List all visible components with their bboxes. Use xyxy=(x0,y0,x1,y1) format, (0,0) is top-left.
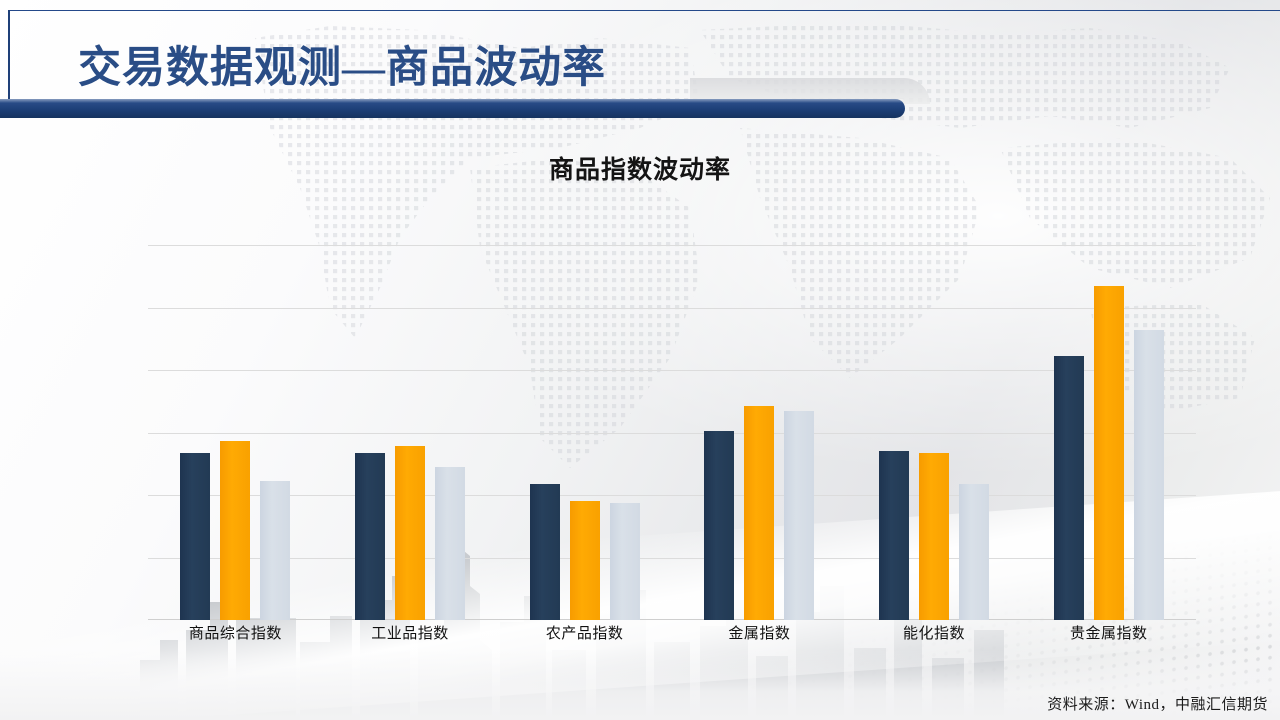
bar-group xyxy=(1021,245,1196,620)
x-axis-label: 能化指数 xyxy=(847,622,1022,648)
bar-1[interactable] xyxy=(180,453,210,621)
bar-2[interactable] xyxy=(744,406,774,620)
bar-group xyxy=(148,245,323,620)
source-note: 资料来源：Wind，中融汇信期货 xyxy=(1047,693,1268,714)
chart-x-axis-labels: 商品综合指数工业品指数农产品指数金属指数能化指数贵金属指数 xyxy=(148,622,1196,648)
bar-1[interactable] xyxy=(704,431,734,620)
bar-2[interactable] xyxy=(1094,286,1124,620)
bar-group xyxy=(323,245,498,620)
chart-bar-groups xyxy=(148,245,1196,620)
x-axis-label: 商品综合指数 xyxy=(148,622,323,648)
x-axis-label: 金属指数 xyxy=(672,622,847,648)
bar-1[interactable] xyxy=(879,451,909,620)
bar-group xyxy=(847,245,1022,620)
chart-title: 商品指数波动率 xyxy=(0,150,1280,186)
header-gray-swoosh xyxy=(690,78,930,104)
bar-2[interactable] xyxy=(220,441,250,620)
header-blue-bar xyxy=(0,99,905,118)
bar-1[interactable] xyxy=(530,484,560,620)
bar-2[interactable] xyxy=(570,501,600,620)
bar-1[interactable] xyxy=(355,453,385,621)
bar-group xyxy=(497,245,672,620)
slide-canvas: 交易数据观测—商品波动率 商品指数波动率 商品综合指数工业品指数农产品指数金属指… xyxy=(0,0,1280,720)
x-axis-label: 农产品指数 xyxy=(497,622,672,648)
header-left-rule xyxy=(8,10,10,114)
x-axis-label: 贵金属指数 xyxy=(1021,622,1196,648)
bar-3[interactable] xyxy=(260,481,290,620)
bar-1[interactable] xyxy=(1054,356,1084,620)
bar-3[interactable] xyxy=(435,467,465,620)
chart-plot-area xyxy=(148,245,1196,620)
bar-2[interactable] xyxy=(395,446,425,620)
bar-3[interactable] xyxy=(610,503,640,621)
header-top-rule xyxy=(8,10,1280,11)
bar-2[interactable] xyxy=(919,453,949,621)
bar-3[interactable] xyxy=(959,484,989,620)
page-title: 交易数据观测—商品波动率 xyxy=(78,33,606,95)
bar-3[interactable] xyxy=(784,411,814,620)
bar-3[interactable] xyxy=(1134,330,1164,620)
bar-group xyxy=(672,245,847,620)
x-axis-label: 工业品指数 xyxy=(323,622,498,648)
